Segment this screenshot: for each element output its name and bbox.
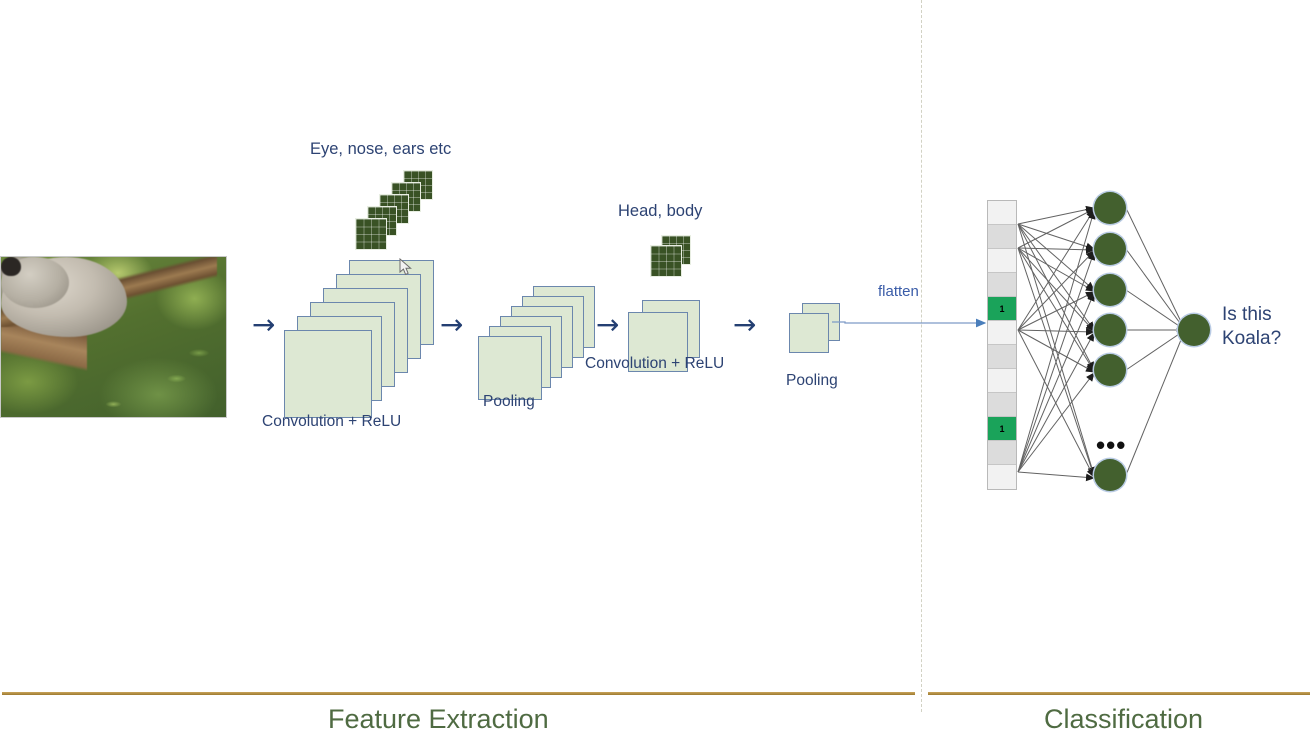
flatten-vector: 1 1 [987, 200, 1017, 490]
output-node [1178, 314, 1210, 346]
filter-tile [355, 218, 387, 250]
hidden-node [1094, 354, 1126, 386]
pool2-label: Pooling [786, 372, 838, 390]
conv2-label: Convolution + ReLU [585, 355, 724, 373]
vector-cell [988, 249, 1016, 273]
conv1-label: Convolution + ReLU [262, 413, 401, 431]
feature-extraction-rule [2, 692, 915, 695]
conv1-feature-map-stack [284, 260, 444, 415]
hidden-layer-ellipsis: ••• [1096, 432, 1126, 458]
conv2-feature-label: Head, body [618, 202, 702, 221]
section-divider [921, 0, 922, 712]
arrow-input-to-conv1: → [252, 311, 275, 339]
hidden-node [1094, 274, 1126, 306]
hidden-node [1094, 459, 1126, 491]
output-question: Is this Koala? [1222, 303, 1281, 352]
pool1-feature-map-stack [478, 286, 588, 396]
vector-cell [988, 369, 1016, 393]
arrow-pool1-to-conv2: → [596, 311, 619, 339]
pool1-label: Pooling [483, 393, 535, 411]
input-koala-photo [0, 256, 227, 418]
vector-cell [988, 465, 1016, 489]
pool2-feature-map-stack [789, 303, 849, 358]
feature-map-card [478, 336, 542, 400]
cnn-diagram-canvas: → → → → Eye, nose, ears etc Convolution … [0, 0, 1312, 739]
section-label-feature-extraction: Feature Extraction [328, 704, 549, 735]
photo-koala-nose [1, 257, 21, 276]
flatten-label: flatten [878, 283, 919, 300]
vector-cell [988, 273, 1016, 297]
vector-cell [988, 393, 1016, 417]
vector-cell-active: 1 [988, 297, 1016, 321]
mouse-cursor-icon [399, 258, 413, 281]
hidden-node [1094, 192, 1126, 224]
vector-cell [988, 201, 1016, 225]
vector-cell [988, 225, 1016, 249]
vector-cell [988, 345, 1016, 369]
feature-map-card [789, 313, 829, 353]
conv1-filter-stack [355, 170, 435, 250]
output-question-line1: Is this [1222, 303, 1281, 327]
conv1-feature-label: Eye, nose, ears etc [310, 140, 451, 159]
section-label-classification: Classification [1044, 704, 1203, 735]
conv2-filter-stack [650, 235, 700, 280]
vector-cell [988, 321, 1016, 345]
classification-rule [928, 692, 1310, 695]
filter-tile [650, 245, 682, 277]
arrow-conv2-to-pool2: → [733, 311, 756, 339]
hidden-node [1094, 233, 1126, 265]
feature-map-card [284, 330, 372, 418]
vector-cell [988, 441, 1016, 465]
hidden-node [1094, 314, 1126, 346]
vector-cell-active: 1 [988, 417, 1016, 441]
output-question-line2: Koala? [1222, 327, 1281, 351]
